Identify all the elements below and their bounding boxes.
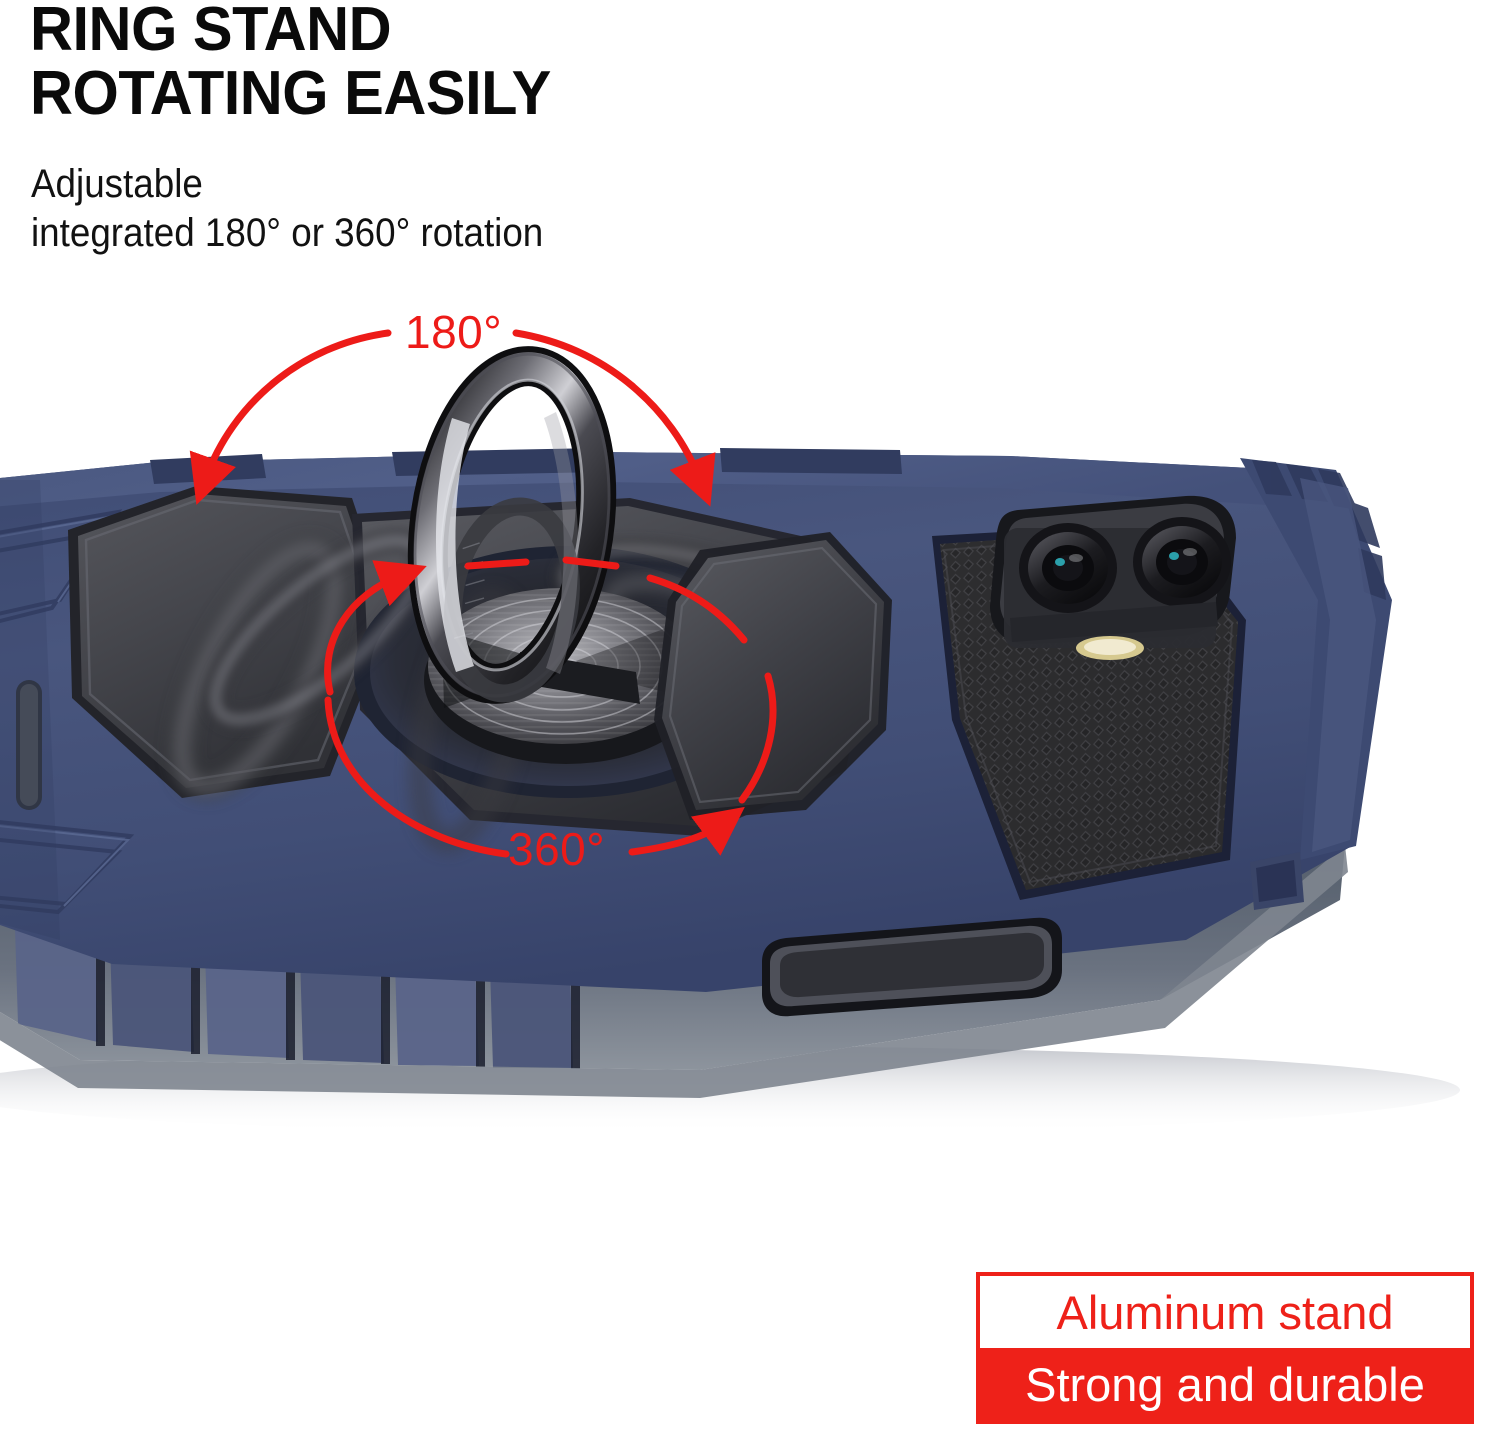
aluminum-stand-badge: Aluminum stand Strong and durable: [976, 1272, 1474, 1424]
badge-subtitle: Strong and durable: [980, 1348, 1470, 1420]
page-title: RING STAND ROTATING EASILY: [30, 0, 894, 127]
page-subtitle: Adjustable integrated 180° or 360° rotat…: [31, 160, 859, 258]
product-photo: [0, 300, 1500, 1200]
product-feature-image: RING STAND ROTATING EASILY Adjustable in…: [0, 0, 1500, 1435]
badge-title: Aluminum stand: [980, 1276, 1470, 1348]
rotation-360-label: 360°: [508, 822, 605, 876]
rotation-180-label: 180°: [405, 305, 502, 359]
